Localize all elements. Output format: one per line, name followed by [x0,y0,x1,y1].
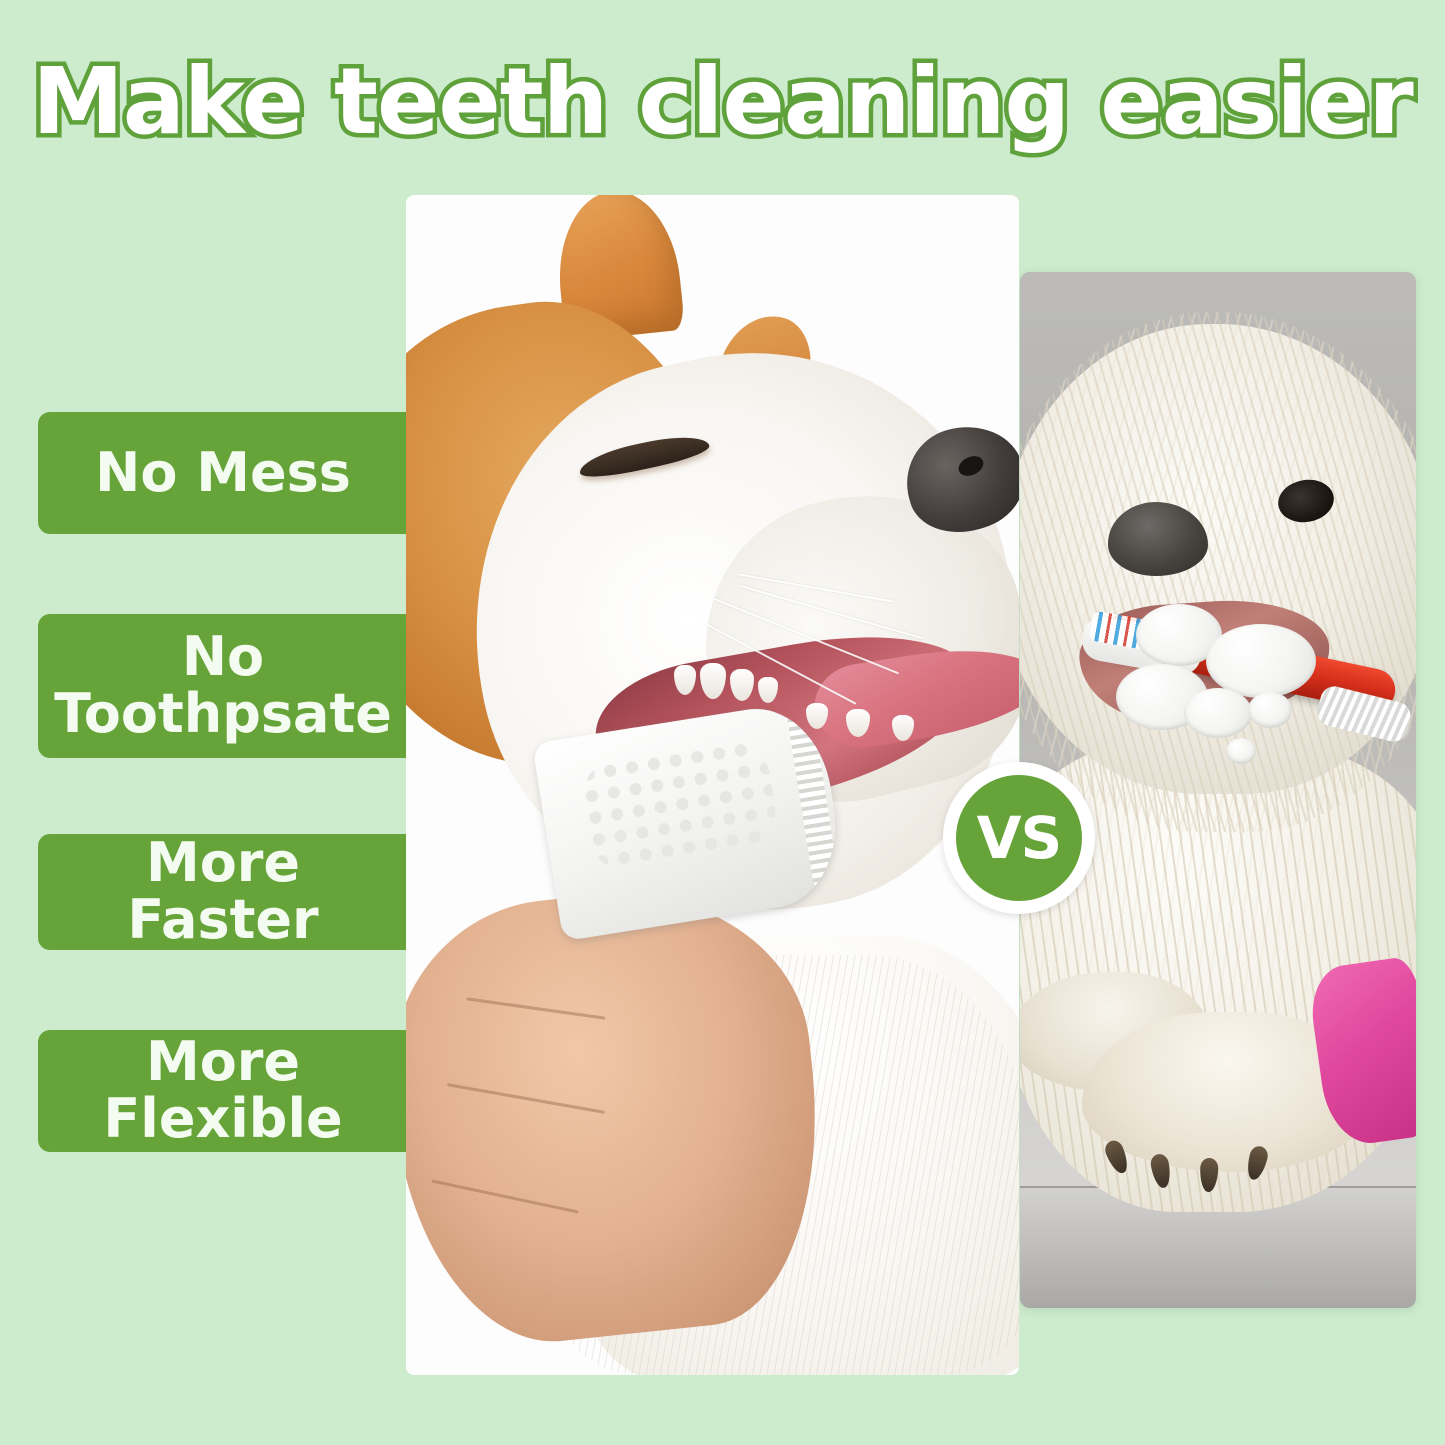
toothpaste-foam [1226,738,1256,764]
feature-bar-no-mess: No Mess [38,412,408,534]
comparison-photo-finger-brush [406,195,1019,1375]
dog-head-fur-texture [1020,312,1416,832]
feature-label: More Faster [38,835,408,948]
brush-nubs [576,735,781,875]
feature-label: More Flexible [38,1034,408,1147]
feature-bar-more-faster: More Faster [38,834,408,950]
product-comparison-poster: Make teeth cleaning easier No Mess No To… [0,0,1445,1445]
feature-label: No Mess [89,445,357,502]
vs-badge: VS [943,762,1095,914]
toothpaste-foam [1248,692,1292,728]
toothpaste-foam [1206,624,1316,698]
toothpaste-foam [1184,688,1252,738]
feature-label: No Toothpsate [48,629,398,742]
page-title: Make teeth cleaning easier [0,54,1445,151]
comparison-photo-toothbrush [1020,272,1416,1308]
vs-label: VS [977,809,1062,867]
feature-bar-no-toothpaste: No Toothpsate [38,614,408,758]
feature-bar-more-flexible: More Flexible [38,1030,408,1152]
